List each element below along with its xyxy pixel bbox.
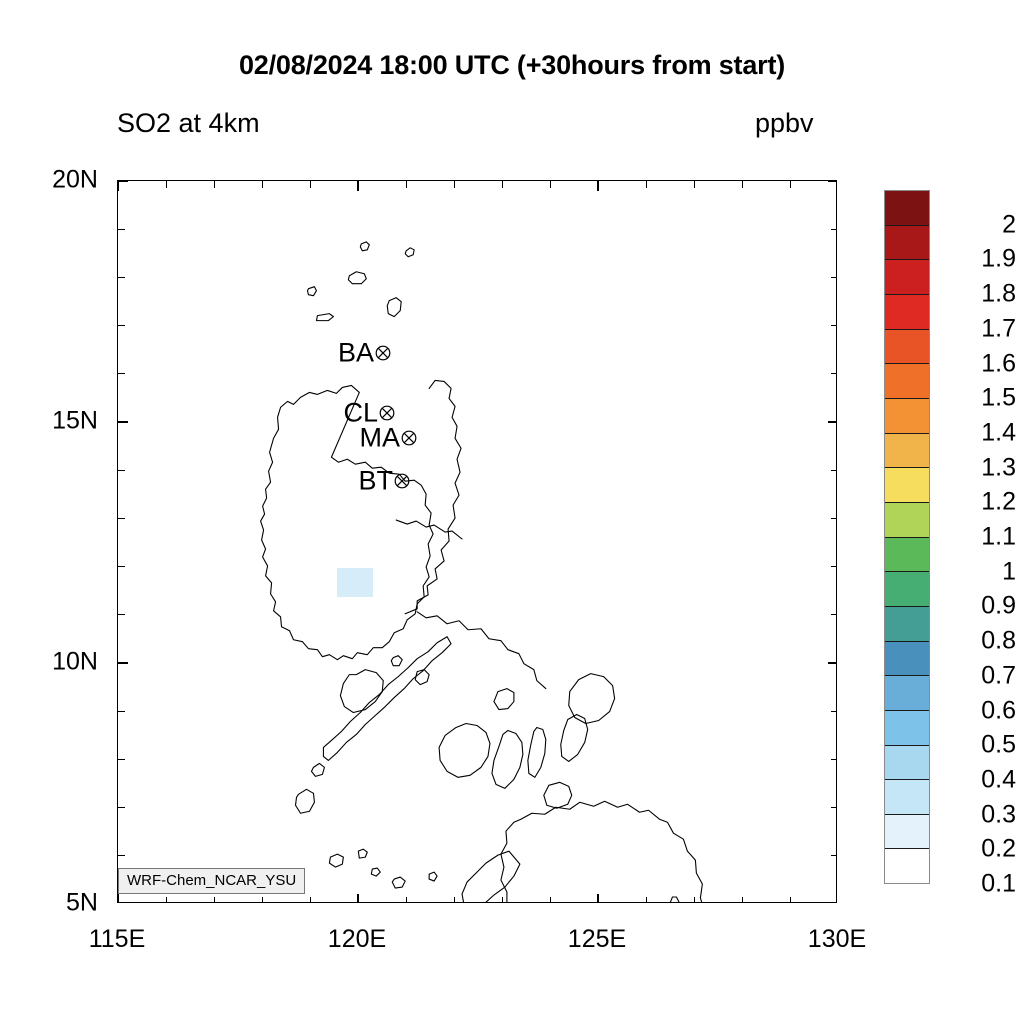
x-axis-tick-label: 130E — [808, 925, 866, 954]
colorbar-tick-label: 0.7 — [936, 661, 1016, 690]
colorbar-tick-label: 1.8 — [936, 280, 1016, 309]
y-axis-tick-label: 5N — [0, 889, 98, 918]
units-label: ppbv — [755, 108, 814, 139]
y-axis-labels: 20N15N10N5N — [0, 180, 1024, 903]
page-title: 02/08/2024 18:00 UTC (+30hours from star… — [0, 50, 1024, 81]
so2-map-figure: 02/08/2024 18:00 UTC (+30hours from star… — [0, 0, 1024, 1024]
x-axis-tick-label: 115E — [89, 925, 146, 954]
y-axis-tick-label: 15N — [0, 407, 98, 436]
colorbar-tick-label: 1 — [936, 557, 1016, 586]
colorbar-cell — [885, 676, 929, 711]
colorbar-cell — [885, 503, 929, 538]
colorbar-labels: 21.91.81.71.61.51.41.31.21.110.90.80.70.… — [936, 190, 1022, 884]
colorbar-cell — [885, 815, 929, 850]
colorbar-cell — [885, 191, 929, 226]
x-axis-tick-label: 120E — [328, 925, 386, 954]
colorbar-tick-label: 0.4 — [936, 765, 1016, 794]
colorbar-cell — [885, 330, 929, 365]
colorbar-cell — [885, 711, 929, 746]
colorbar-tick-label: 0.1 — [936, 870, 1016, 899]
colorbar-tick-label: 1.1 — [936, 523, 1016, 552]
colorbar-cell — [885, 364, 929, 399]
colorbar-tick-label: 1.5 — [936, 384, 1016, 413]
x-axis-tick-label: 125E — [568, 925, 626, 954]
colorbar-tick-label: 0.6 — [936, 696, 1016, 725]
colorbar-cell — [885, 538, 929, 573]
colorbar-tick-label: 1.7 — [936, 314, 1016, 343]
colorbar-cell — [885, 226, 929, 261]
y-axis-tick-label: 20N — [0, 166, 98, 195]
colorbar-tick-label: 0.2 — [936, 835, 1016, 864]
colorbar-cell — [885, 746, 929, 781]
colorbar-cell — [885, 434, 929, 469]
colorbar-tick-label: 1.6 — [936, 349, 1016, 378]
colorbar-tick-label: 0.8 — [936, 627, 1016, 656]
colorbar-tick-label: 0.5 — [936, 731, 1016, 760]
colorbar-tick-label: 1.2 — [936, 488, 1016, 517]
colorbar-cell — [885, 607, 929, 642]
colorbar-cell — [885, 849, 929, 883]
colorbar[interactable] — [884, 190, 930, 884]
colorbar-cell — [885, 260, 929, 295]
variable-level-label: SO2 at 4km — [117, 108, 260, 139]
colorbar-cell — [885, 642, 929, 677]
colorbar-tick-label: 1.4 — [936, 418, 1016, 447]
colorbar-cell — [885, 780, 929, 815]
colorbar-tick-label: 0.9 — [936, 592, 1016, 621]
colorbar-cell — [885, 295, 929, 330]
colorbar-tick-label: 0.3 — [936, 800, 1016, 829]
colorbar-tick-label: 2 — [936, 210, 1016, 239]
colorbar-tick-label: 1.3 — [936, 453, 1016, 482]
colorbar-cell — [885, 468, 929, 503]
colorbar-cell — [885, 572, 929, 607]
colorbar-tick-label: 1.9 — [936, 245, 1016, 274]
colorbar-cell — [885, 399, 929, 434]
y-axis-tick-label: 10N — [0, 648, 98, 677]
